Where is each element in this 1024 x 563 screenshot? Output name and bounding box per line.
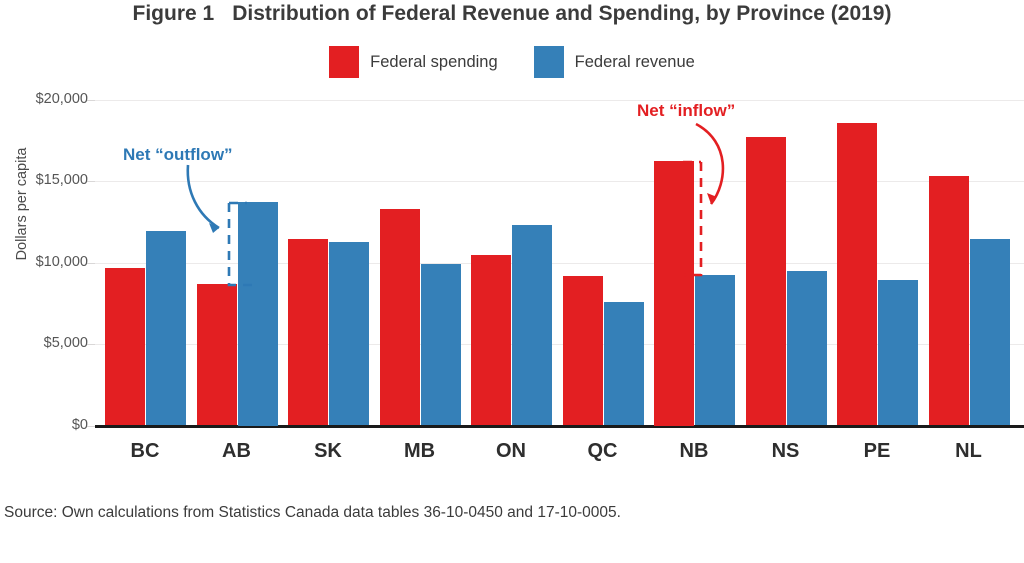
- annotation-net-outflow: Net “outflow”: [123, 145, 233, 165]
- bar-sk-revenue[interactable]: [329, 242, 369, 426]
- bar-pe-revenue[interactable]: [878, 280, 918, 426]
- y-tick-label-20000: $20,000: [2, 91, 88, 107]
- x-tick-label-mb: MB: [375, 440, 465, 463]
- source-note: Source: Own calculations from Statistics…: [4, 504, 621, 522]
- bar-qc-spending[interactable]: [563, 276, 603, 426]
- x-tick-label-nl: NL: [924, 440, 1014, 463]
- inflow-arrowhead: [707, 193, 717, 204]
- inflow-arrow: [696, 124, 723, 204]
- bar-bc-revenue[interactable]: [146, 231, 186, 425]
- x-tick-label-ns: NS: [741, 440, 831, 463]
- bar-nl-spending[interactable]: [929, 176, 969, 426]
- bar-sk-spending[interactable]: [288, 239, 328, 425]
- y-tick-label-5000: $5,000: [2, 335, 88, 351]
- y-tick-label-10000: $10,000: [2, 254, 88, 270]
- bar-qc-revenue[interactable]: [604, 302, 644, 426]
- bar-ab-revenue[interactable]: [238, 202, 278, 426]
- bar-nl-revenue[interactable]: [970, 239, 1010, 425]
- plot-area: Dollars per capita $0$5,000$10,000$15,00…: [0, 0, 1024, 563]
- bar-pe-spending[interactable]: [837, 123, 877, 426]
- bar-mb-spending[interactable]: [380, 209, 420, 425]
- y-axis-ticks: $0$5,000$10,000$15,000$20,000: [0, 0, 88, 563]
- gridline-20000: [95, 100, 1024, 101]
- x-tick-label-sk: SK: [283, 440, 373, 463]
- bar-nb-spending[interactable]: [654, 161, 694, 425]
- bar-on-revenue[interactable]: [512, 225, 552, 425]
- x-tick-label-pe: PE: [832, 440, 922, 463]
- bar-ab-spending[interactable]: [197, 284, 237, 426]
- gridline-15000: [95, 181, 1024, 182]
- x-tick-label-qc: QC: [558, 440, 648, 463]
- x-tick-label-on: ON: [466, 440, 556, 463]
- x-tick-label-nb: NB: [649, 440, 739, 463]
- bar-on-spending[interactable]: [471, 255, 511, 426]
- bar-ns-spending[interactable]: [746, 137, 786, 425]
- x-tick-label-ab: AB: [192, 440, 282, 463]
- outflow-arrow: [188, 165, 219, 228]
- y-tick-label-15000: $15,000: [2, 172, 88, 188]
- bar-mb-revenue[interactable]: [421, 264, 461, 426]
- x-tick-label-bc: BC: [100, 440, 190, 463]
- figure-container: Figure 1Distribution of Federal Revenue …: [0, 0, 1024, 563]
- bar-nb-revenue[interactable]: [695, 275, 735, 426]
- bar-ns-revenue[interactable]: [787, 271, 827, 426]
- bar-bc-spending[interactable]: [105, 268, 145, 425]
- gridline-10000: [95, 263, 1024, 264]
- y-tick-label-0: $0: [2, 417, 88, 433]
- outflow-arrowhead: [209, 223, 219, 233]
- annotation-net-inflow: Net “inflow”: [637, 101, 735, 121]
